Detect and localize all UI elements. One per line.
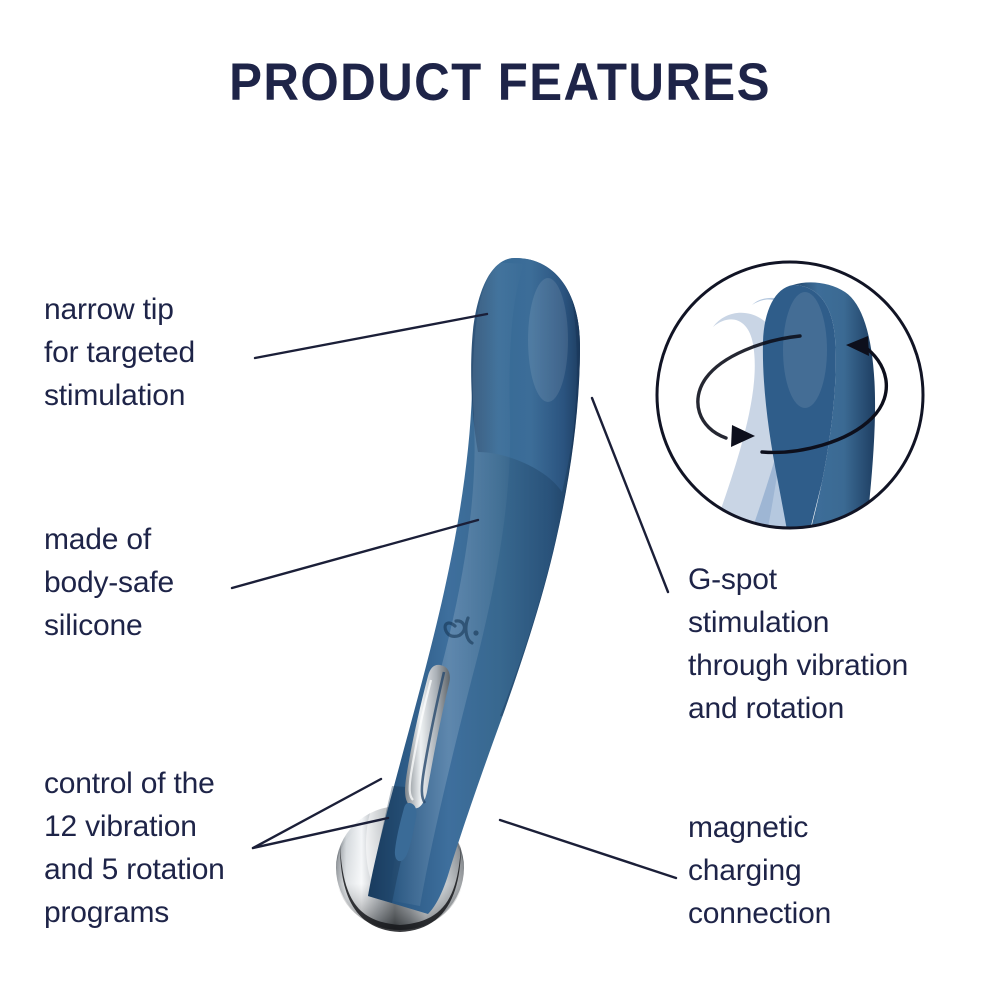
callout-vibration-rotation-programs: control of the 12 vibration and 5 rotati… (44, 762, 314, 934)
infographic-canvas: PRODUCT FEATURES (0, 0, 1000, 1000)
leader-magnetic (500, 820, 676, 878)
callout-gspot-stimulation: G-spot stimulation through vibration and… (688, 558, 973, 730)
leader-gspot (592, 398, 668, 592)
callout-magnetic-charging: magnetic charging connection (688, 806, 968, 935)
callout-narrow-tip: narrow tip for targeted stimulation (44, 288, 294, 417)
callout-body-safe-silicone: made of body-safe silicone (44, 518, 294, 647)
